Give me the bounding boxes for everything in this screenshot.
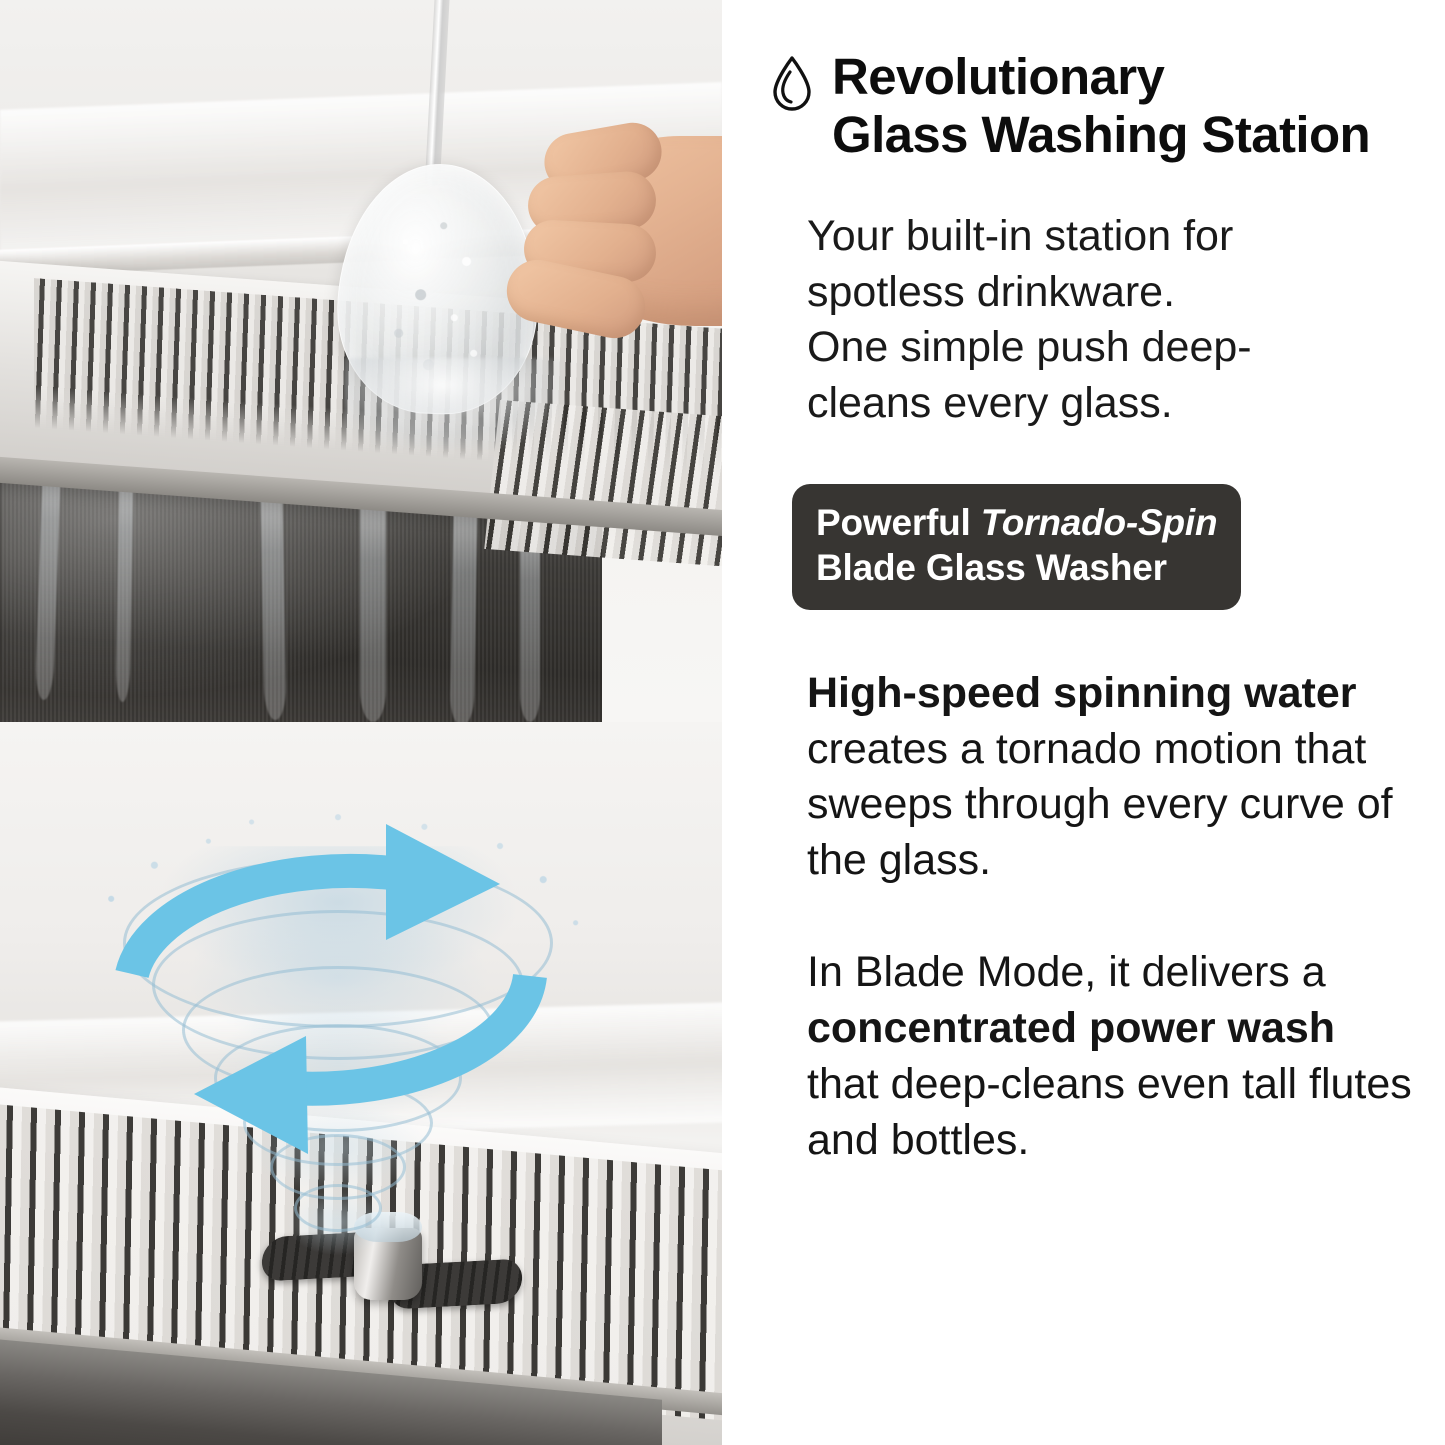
page-title-line-1: Revolutionary (832, 48, 1370, 106)
feature-badge-line-2: Blade Glass Washer (816, 546, 1217, 591)
media-column (0, 0, 722, 1445)
feature-paragraph-2-lead: In Blade Mode, it delivers a (807, 948, 1326, 996)
glass-stem (425, 0, 450, 186)
hand (470, 118, 722, 418)
rotation-arrow-top-arc (132, 871, 400, 974)
water-drop-icon (770, 54, 814, 119)
feature-paragraph-1-rest: creates a tornado motion that sweeps thr… (807, 725, 1393, 885)
text-column: Revolutionary Glass Washing Station Your… (722, 0, 1445, 1445)
feature-paragraph-2-bold: concentrated power wash (807, 1004, 1335, 1052)
tornado-spin-photo (0, 722, 722, 1445)
rotation-arrow-bottom-head (194, 1036, 308, 1154)
feature-badge: Powerful Tornado-Spin Blade Glass Washer (792, 484, 1241, 610)
glass-washing-photo (0, 0, 722, 722)
feature-paragraph-1: High-speed spinning water creates a torn… (807, 666, 1415, 890)
lede-line-4: cleans every glass. (807, 379, 1173, 427)
feature-paragraph-1-bold: High-speed spinning water (807, 669, 1357, 717)
feature-paragraph-2: In Blade Mode, it delivers a concentrate… (807, 945, 1415, 1169)
feature-badge-prefix: Powerful (816, 502, 981, 543)
rotation-arrow-top-head (386, 824, 500, 940)
feature-badge-emphasis: Tornado-Spin (981, 502, 1218, 543)
rotation-arrows (60, 806, 620, 1226)
page-title-text: Revolutionary Glass Washing Station (832, 48, 1370, 163)
page-title-line-2: Glass Washing Station (832, 106, 1370, 164)
lede-line-2: spotless drinkware. (807, 268, 1175, 316)
page-title: Revolutionary Glass Washing Station (770, 48, 1415, 163)
lede-line-1: Your built-in station for (807, 212, 1233, 260)
product-feature-page: Revolutionary Glass Washing Station Your… (0, 0, 1445, 1445)
lede-paragraph: Your built-in station for spotless drink… (807, 209, 1415, 431)
feature-paragraph-2-rest: that deep-cleans even tall flutes and bo… (807, 1060, 1412, 1164)
feature-badge-line-1: Powerful Tornado-Spin (816, 501, 1217, 546)
lede-line-3: One simple push deep- (807, 323, 1252, 371)
rotation-arrow-bottom-arc (288, 976, 530, 1089)
